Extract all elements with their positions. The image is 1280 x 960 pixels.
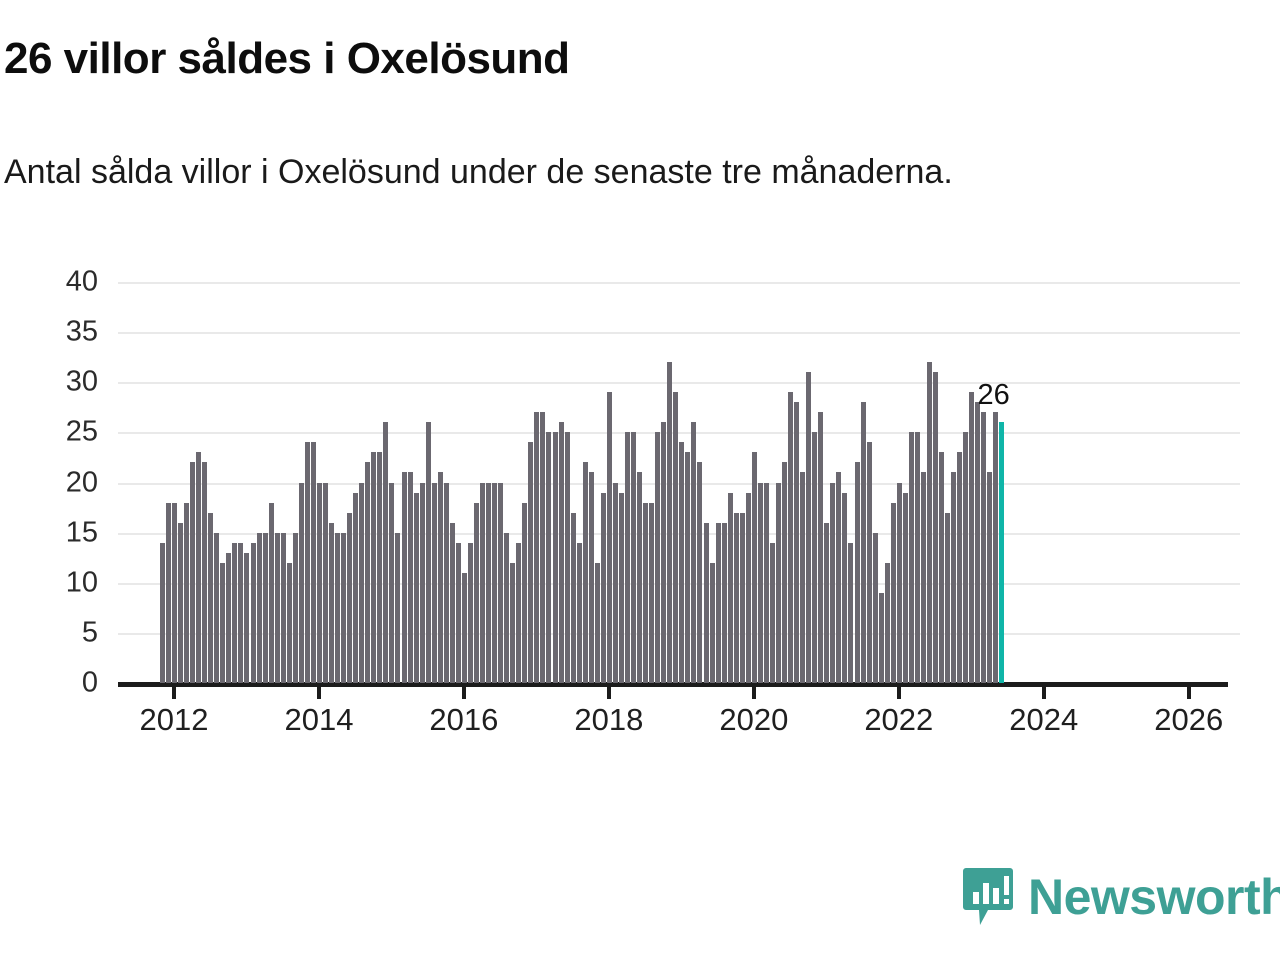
bar [377, 452, 382, 683]
bar [595, 563, 600, 683]
bar [661, 422, 666, 683]
bar [462, 573, 467, 683]
highlight-value-label: 26 [977, 379, 1009, 412]
bar [395, 533, 400, 683]
bar [685, 452, 690, 683]
bar [335, 533, 340, 683]
bar [329, 523, 334, 683]
bar [220, 563, 225, 683]
bar [202, 462, 207, 683]
y-axis-tick-label: 25 [0, 418, 98, 447]
bar [885, 563, 890, 683]
bar [468, 543, 473, 683]
bar [214, 533, 219, 683]
bar [613, 483, 618, 684]
bar [764, 483, 769, 684]
x-axis-tick [897, 683, 901, 699]
bar-chart: 0510152025303540 20122014201620182020202… [0, 282, 1280, 702]
y-axis-tick-label: 10 [0, 568, 98, 597]
y-axis-tick-label: 40 [0, 268, 98, 297]
x-axis-tick-label: 2012 [140, 702, 209, 738]
bar [553, 432, 558, 683]
bar [903, 493, 908, 683]
bar [589, 472, 594, 683]
bar [408, 472, 413, 683]
y-axis-tick-label: 15 [0, 518, 98, 547]
bar [263, 533, 268, 683]
x-axis-tick [1042, 683, 1046, 699]
bar [414, 493, 419, 683]
x-axis-tick [1187, 683, 1191, 699]
x-axis-tick-label: 2018 [574, 702, 643, 738]
bar [251, 543, 256, 683]
bar [830, 483, 835, 684]
bar [480, 483, 485, 684]
y-axis-tick-label: 30 [0, 368, 98, 397]
bar-highlighted [999, 422, 1004, 683]
bar [867, 442, 872, 683]
bar [504, 533, 509, 683]
bar [607, 392, 612, 683]
bar [776, 483, 781, 684]
y-axis-tick-label: 0 [0, 669, 98, 698]
bar [402, 472, 407, 683]
bar [939, 452, 944, 683]
bar [758, 483, 763, 684]
chart-subtitle: Antal sålda villor i Oxelösund under de … [4, 150, 1184, 195]
bar [818, 412, 823, 683]
bar [824, 523, 829, 683]
page-title: 26 villor såldes i Oxelösund [4, 34, 570, 84]
bar [190, 462, 195, 683]
bar [208, 513, 213, 683]
bar [975, 402, 980, 683]
bar [438, 472, 443, 683]
bar [794, 402, 799, 683]
bar [848, 543, 853, 683]
bar [697, 462, 702, 683]
bar [232, 543, 237, 683]
bar [341, 533, 346, 683]
bar [631, 432, 636, 683]
bar [800, 472, 805, 683]
bar [426, 422, 431, 683]
bar [540, 412, 545, 683]
bar [456, 543, 461, 683]
bar [649, 503, 654, 683]
bar [957, 452, 962, 683]
bar [746, 493, 751, 683]
bar [740, 513, 745, 683]
bar [788, 392, 793, 683]
bar [166, 503, 171, 683]
bar [305, 442, 310, 683]
bar [559, 422, 564, 683]
bar [383, 422, 388, 683]
bar [861, 402, 866, 683]
bar [160, 543, 165, 683]
bar [577, 543, 582, 683]
bar [238, 543, 243, 683]
bar [323, 483, 328, 684]
bar [667, 362, 672, 683]
bar [281, 533, 286, 683]
bar [311, 442, 316, 683]
bar [269, 503, 274, 683]
bar [915, 432, 920, 683]
bar [432, 483, 437, 684]
bar [371, 452, 376, 683]
bar [981, 412, 986, 683]
x-axis-tick [317, 683, 321, 699]
bar-chart-speech-bubble-icon [962, 866, 1014, 928]
chart-page: 26 villor såldes i Oxelösund Antal sålda… [0, 0, 1280, 960]
bar [643, 503, 648, 683]
x-axis-tick-label: 2026 [1154, 702, 1223, 738]
bar [873, 533, 878, 683]
x-axis-tick-label: 2020 [719, 702, 788, 738]
x-axis-tick [462, 683, 466, 699]
bar [565, 432, 570, 683]
bar [770, 543, 775, 683]
x-axis-tick [607, 683, 611, 699]
bar [637, 472, 642, 683]
bar [752, 452, 757, 683]
bar [782, 462, 787, 683]
y-axis-tick-label: 5 [0, 618, 98, 647]
bar [293, 533, 298, 683]
bar [196, 452, 201, 683]
bar [897, 483, 902, 684]
bar [444, 483, 449, 684]
bar [257, 533, 262, 683]
x-axis-tick [172, 683, 176, 699]
bar [172, 503, 177, 683]
bar [317, 483, 322, 684]
bar [704, 523, 709, 683]
bar [951, 472, 956, 683]
bar [359, 483, 364, 684]
bar [909, 432, 914, 683]
bar [963, 432, 968, 683]
bar [722, 523, 727, 683]
bar [389, 483, 394, 684]
x-axis-tick-label: 2016 [429, 702, 498, 738]
bar [945, 513, 950, 683]
bar [287, 563, 292, 683]
bar [679, 442, 684, 683]
newsworthy-logo: Newsworthy [962, 866, 1280, 928]
bar [601, 493, 606, 683]
bar [728, 493, 733, 683]
bar [691, 422, 696, 683]
bar [347, 513, 352, 683]
bar [450, 523, 455, 683]
bar [184, 503, 189, 683]
bar [498, 483, 503, 684]
bar [673, 392, 678, 683]
bar [226, 553, 231, 683]
bar [275, 533, 280, 683]
bar [486, 483, 491, 684]
bar [299, 483, 304, 684]
bar [534, 412, 539, 683]
bar [522, 503, 527, 683]
x-axis-tick-label: 2022 [864, 702, 933, 738]
bar [716, 523, 721, 683]
bar [836, 472, 841, 683]
bar [921, 472, 926, 683]
bar [244, 553, 249, 683]
bar [655, 432, 660, 683]
bar [855, 462, 860, 683]
x-axis-tick-label: 2014 [284, 702, 353, 738]
bar [571, 513, 576, 683]
y-axis-tick-label: 20 [0, 468, 98, 497]
bar [516, 543, 521, 683]
bar [842, 493, 847, 683]
bar [178, 523, 183, 683]
bar [879, 593, 884, 683]
bar [583, 462, 588, 683]
bar [546, 432, 551, 683]
x-axis-tick-label: 2024 [1009, 702, 1078, 738]
bar [734, 513, 739, 683]
plot-area [118, 282, 1228, 683]
bar [927, 362, 932, 683]
bar [353, 493, 358, 683]
y-axis-tick-label: 35 [0, 318, 98, 347]
bar [474, 503, 479, 683]
bar [710, 563, 715, 683]
bar [987, 472, 992, 683]
x-axis-tick [752, 683, 756, 699]
bar [933, 372, 938, 683]
bar [510, 563, 515, 683]
bar [993, 412, 998, 683]
bar [625, 432, 630, 683]
bar [806, 372, 811, 683]
bar [891, 503, 896, 683]
bar [619, 493, 624, 683]
bar [420, 483, 425, 684]
bar [528, 442, 533, 683]
bar [812, 432, 817, 683]
bar [969, 392, 974, 683]
logo-wordmark: Newsworthy [1028, 872, 1280, 922]
bar [492, 483, 497, 684]
bar [365, 462, 370, 683]
